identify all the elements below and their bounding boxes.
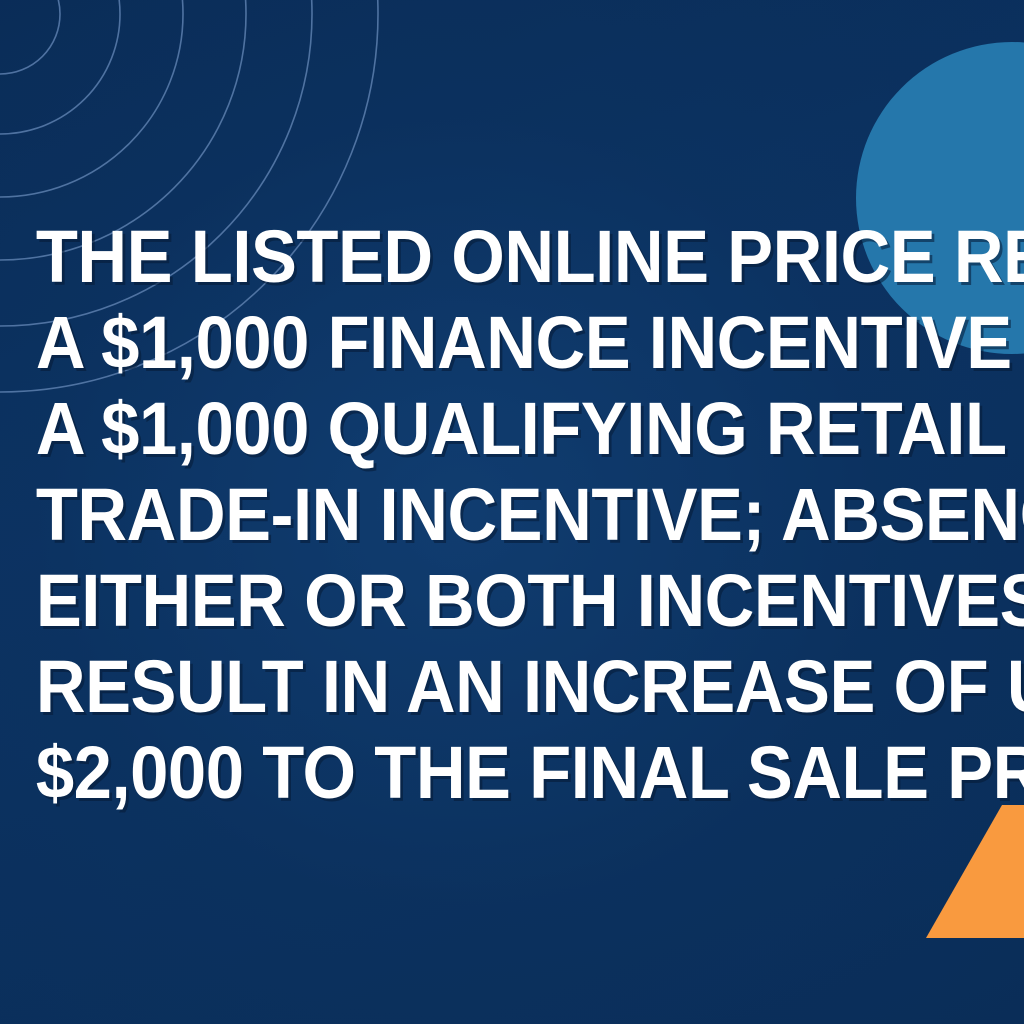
headline-line-7: $2,000 TO THE FINAL SALE PRICE. — [36, 730, 988, 816]
headline-text: THE LISTED ONLINE PRICE REFLECTS A $1,00… — [36, 214, 988, 816]
headline-line-2: A $1,000 FINANCE INCENTIVE AND — [36, 300, 988, 386]
promo-banner: THE LISTED ONLINE PRICE REFLECTS A $1,00… — [0, 0, 1024, 1024]
accent-triangle — [920, 798, 1024, 944]
headline-line-3: A $1,000 QUALIFYING RETAIL — [36, 386, 988, 472]
headline-line-6: RESULT IN AN INCREASE OF UP TO — [36, 644, 988, 730]
headline-line-4: TRADE-IN INCENTIVE; ABSENCE OF — [36, 472, 988, 558]
headline-line-1: THE LISTED ONLINE PRICE REFLECTS — [36, 214, 988, 300]
headline-line-5: EITHER OR BOTH INCENTIVES WILL — [36, 558, 988, 644]
